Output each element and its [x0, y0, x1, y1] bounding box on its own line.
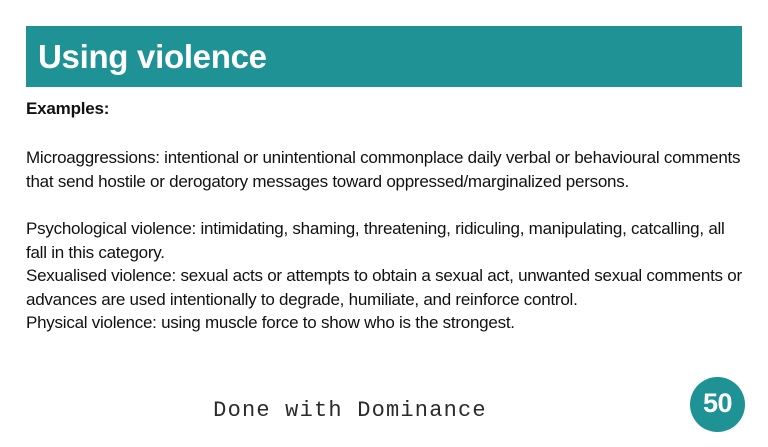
paragraph-microaggressions: Microaggressions: intentional or uninten… — [26, 146, 742, 193]
paragraph-sexualised-violence: Sexualised violence: sexual acts or atte… — [26, 264, 742, 311]
paragraph-psychological-violence: Psychological violence: intimidating, sh… — [26, 217, 742, 264]
footer-label: Done with Dominance — [0, 396, 700, 426]
page-number-value: 50 — [703, 390, 732, 417]
slide-body: Examples: Microaggressions: intentional … — [26, 98, 742, 335]
slide-canvas: Using violence Examples: Microaggression… — [0, 0, 768, 447]
page-number-badge: 50 — [690, 377, 745, 432]
examples-heading: Examples: — [26, 98, 742, 120]
page-title: Using violence — [38, 39, 267, 72]
paragraph-physical-violence: Physical violence: using muscle force to… — [26, 311, 742, 335]
title-banner: Using violence — [26, 26, 742, 87]
